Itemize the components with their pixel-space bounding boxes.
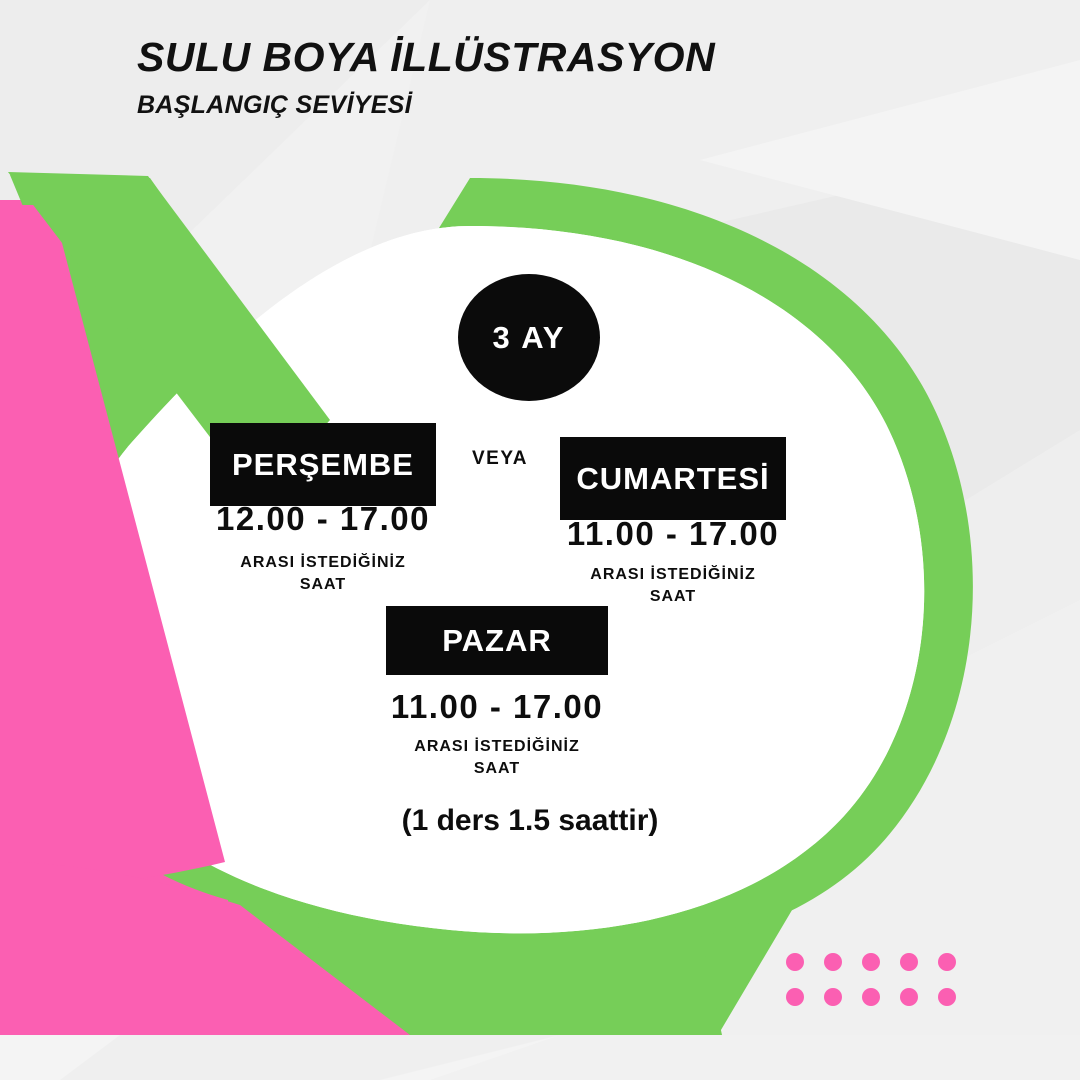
- dot: [900, 988, 918, 1006]
- day-chip-sunday-label: PAZAR: [442, 623, 551, 659]
- day-time-thursday: 12.00 - 17.00: [193, 500, 453, 538]
- page-subtitle: BAŞLANGIÇ SEVİYESİ: [137, 91, 937, 120]
- dot: [862, 988, 880, 1006]
- dot: [824, 988, 842, 1006]
- day-note-saturday: ARASI İSTEDİĞİNİZSAAT: [543, 564, 803, 607]
- day-chip-thursday-label: PERŞEMBE: [232, 447, 414, 483]
- day-chip-saturday[interactable]: CUMARTESİ: [560, 437, 786, 520]
- duration-badge-label: 3 AY: [493, 320, 566, 356]
- day-chip-thursday[interactable]: PERŞEMBE: [210, 423, 436, 506]
- background-artwork: [0, 0, 1080, 1080]
- dot: [786, 988, 804, 1006]
- duration-badge: 3 AY: [458, 274, 600, 401]
- day-note-thursday: ARASI İSTEDİĞİNİZSAAT: [193, 552, 453, 595]
- dot: [900, 953, 918, 971]
- dot: [786, 953, 804, 971]
- poster-header: SULU BOYA İLLÜSTRASYON BAŞLANGIÇ SEVİYES…: [137, 36, 937, 120]
- page-title: SULU BOYA İLLÜSTRASYON: [137, 36, 937, 79]
- dot: [938, 953, 956, 971]
- day-chip-saturday-label: CUMARTESİ: [576, 461, 769, 497]
- dot: [938, 988, 956, 1006]
- day-time-sunday: 11.00 - 17.00: [367, 688, 627, 726]
- dot-grid-decoration: [786, 953, 956, 1006]
- dot: [862, 953, 880, 971]
- day-note-sunday: ARASI İSTEDİĞİNİZSAAT: [367, 736, 627, 779]
- day-time-saturday: 11.00 - 17.00: [543, 515, 803, 553]
- lesson-duration-footnote: (1 ders 1.5 saattir): [330, 804, 730, 838]
- dot: [824, 953, 842, 971]
- poster-canvas: SULU BOYA İLLÜSTRASYON BAŞLANGIÇ SEVİYES…: [0, 0, 1080, 1080]
- day-chip-sunday[interactable]: PAZAR: [386, 606, 608, 675]
- separator-label: VEYA: [445, 448, 555, 470]
